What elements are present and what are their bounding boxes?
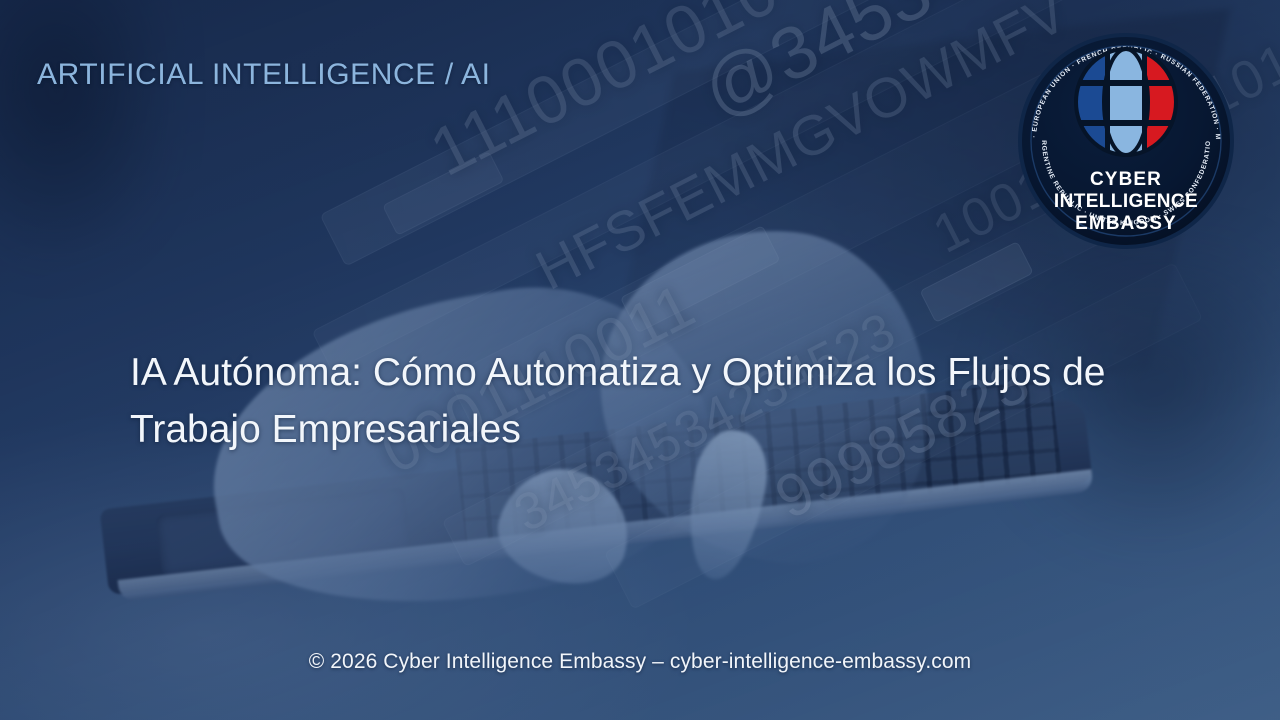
- category-label: ARTIFICIAL INTELLIGENCE / AI: [37, 58, 491, 92]
- logo-title-line-2: INTELLIGENCE: [1054, 191, 1198, 212]
- ai-article-banner: 1110001010 @345345123.COM HFSFEMMGVOWMFV…: [0, 0, 1280, 720]
- footer-copyright: © 2026 Cyber Intelligence Embassy – cybe…: [0, 650, 1280, 674]
- embassy-logo[interactable]: UNITED STATES OF AMERICA · EUROPEAN UNIO…: [1016, 24, 1236, 258]
- page-title: IA Autónoma: Cómo Automatiza y Optimiza …: [130, 344, 1140, 458]
- logo-title-line-3: EMBASSY: [1075, 213, 1177, 234]
- logo-title-line-1: CYBER: [1090, 169, 1162, 190]
